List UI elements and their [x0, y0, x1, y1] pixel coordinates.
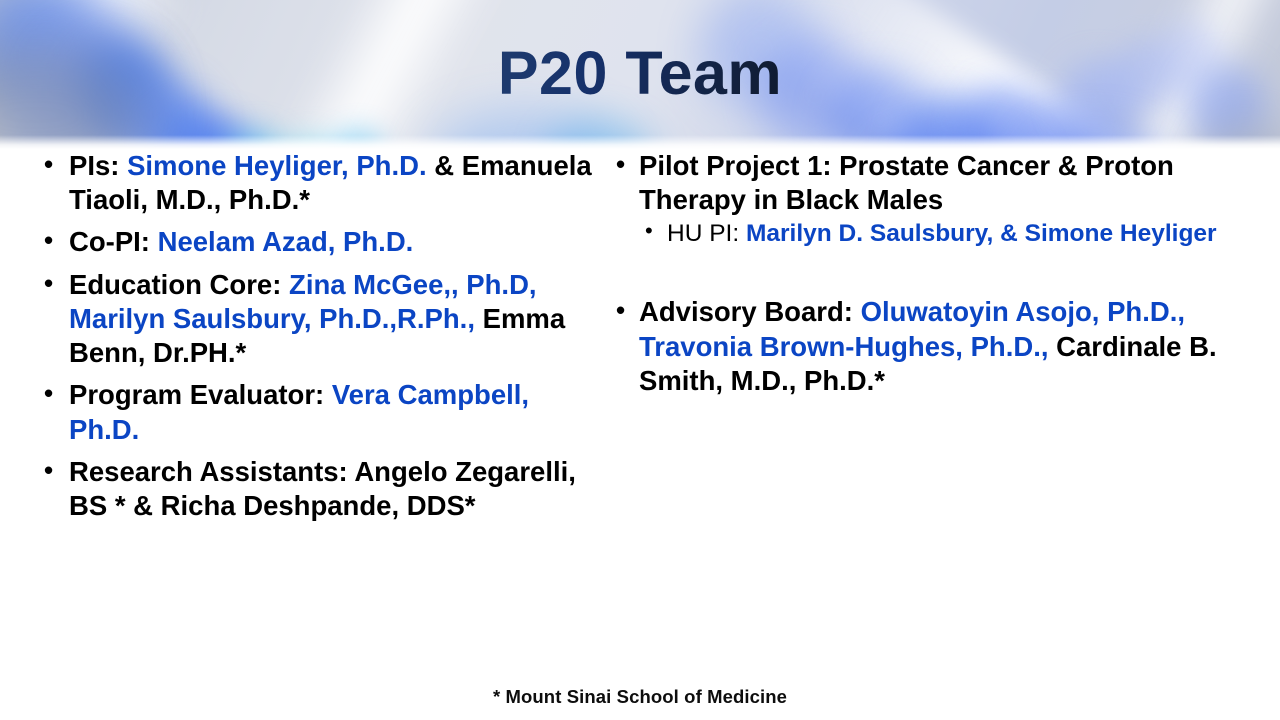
- sub-bullet-names-hu-pi: Marilyn D. Saulsbury, & Simone Heyliger: [746, 220, 1217, 247]
- banner-bokeh-10: [330, 128, 385, 149]
- banner-bokeh-center-2: [545, 120, 655, 149]
- slide-body: PIs: Simone Heyliger, Ph.D. & Emanuela T…: [0, 149, 1280, 669]
- right-column: Pilot Project 1: Prostate Cancer & Proto…: [612, 149, 1252, 406]
- bullet-label-pilot-project-1: Pilot Project 1: Prostate Cancer & Proto…: [639, 150, 1174, 215]
- bullet-label-co-pi: Co-PI:: [69, 226, 158, 257]
- list-item-pilot-project-1: Pilot Project 1: Prostate Cancer & Proto…: [612, 149, 1252, 249]
- bullet-names-co-pi: Neelam Azad, Ph.D.: [158, 226, 414, 257]
- banner-bokeh-center-wash: [430, 110, 620, 149]
- bullet-label-pis: PIs:: [69, 150, 127, 181]
- left-column: PIs: Simone Heyliger, Ph.D. & Emanuela T…: [40, 149, 600, 531]
- page-title: P20 Team: [0, 38, 1280, 108]
- left-bullet-list: PIs: Simone Heyliger, Ph.D. & Emanuela T…: [40, 149, 600, 523]
- footnote: * Mount Sinai School of Medicine: [0, 686, 1280, 708]
- bullet-names-pis: Simone Heyliger, Ph.D.: [127, 150, 427, 181]
- banner-bokeh-r11: [1030, 130, 1160, 149]
- banner-bokeh-8: [225, 130, 290, 149]
- bullet-label-advisory-board: Advisory Board:: [639, 296, 861, 327]
- banner-bokeh-r13: [1200, 120, 1280, 149]
- bullet-label-research-assistants: Research Assistants: Angelo Zegarelli, B…: [69, 456, 576, 521]
- list-item-advisory-board: Advisory Board: Oluwatoyin Asojo, Ph.D.,…: [612, 295, 1252, 398]
- banner-bokeh-5: [150, 105, 230, 149]
- banner-bokeh-9: [280, 135, 340, 149]
- list-item-hu-pi: HU PI: Marilyn D. Saulsbury, & Simone He…: [639, 219, 1252, 249]
- bullet-label-program-evaluator: Program Evaluator:: [69, 379, 332, 410]
- sub-bullet-list-pilot-project-1: HU PI: Marilyn D. Saulsbury, & Simone He…: [639, 219, 1252, 249]
- right-bullet-list: Pilot Project 1: Prostate Cancer & Proto…: [612, 149, 1252, 398]
- list-item-program-evaluator: Program Evaluator: Vera Campbell, Ph.D.: [40, 378, 600, 446]
- list-item-research-assistants: Research Assistants: Angelo Zegarelli, B…: [40, 455, 600, 523]
- list-item-pis: PIs: Simone Heyliger, Ph.D. & Emanuela T…: [40, 149, 600, 217]
- header-banner-image: P20 Team: [0, 0, 1280, 149]
- bullet-label-education-core: Education Core:: [69, 269, 289, 300]
- banner-bokeh-7: [190, 120, 260, 149]
- list-item-co-pi: Co-PI: Neelam Azad, Ph.D.: [40, 225, 600, 259]
- banner-bokeh-r12: [880, 135, 1030, 149]
- column-spacer: [612, 257, 1252, 287]
- sub-bullet-label-hu-pi: HU PI:: [667, 220, 746, 247]
- list-item-education-core: Education Core: Zina McGee,, Ph.D, Maril…: [40, 268, 600, 371]
